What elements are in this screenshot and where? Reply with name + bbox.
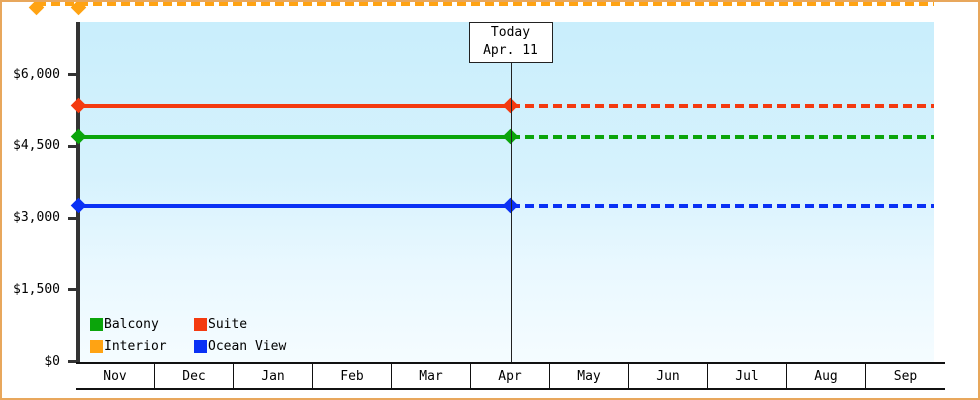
chart-legend: BalconySuiteInteriorOcean View — [90, 313, 286, 357]
today-label-line2: Apr. 11 — [478, 42, 544, 60]
x-axis-month-aug[interactable]: Aug — [787, 364, 866, 388]
price-trend-chart: $6,000$4,500$3,000$1,500$0 Today Apr. 11… — [0, 0, 980, 400]
y-tick-mark — [68, 288, 76, 291]
y-tick-label: $3,000 — [13, 211, 60, 224]
y-tick-label: $4,500 — [13, 139, 60, 152]
x-axis-month-jul[interactable]: Jul — [708, 364, 787, 388]
y-tick-mark — [68, 73, 76, 76]
legend-swatch — [194, 340, 207, 353]
today-vertical-line — [511, 22, 512, 362]
series-line-dashed — [37, 2, 935, 6]
series-line-solid — [76, 104, 511, 108]
x-axis-month-nov[interactable]: Nov — [76, 364, 155, 388]
legend-swatch — [90, 340, 103, 353]
series-line-dashed — [511, 204, 935, 208]
legend-swatch — [90, 318, 103, 331]
legend-item[interactable]: Suite — [194, 318, 286, 331]
x-axis-month-sep[interactable]: Sep — [866, 364, 945, 388]
today-label-box: Today Apr. 11 — [469, 22, 553, 63]
x-axis-month-may[interactable]: May — [550, 364, 629, 388]
y-tick-label: $6,000 — [13, 68, 60, 81]
legend-item[interactable]: Ocean View — [194, 340, 286, 353]
plot-area — [80, 22, 934, 362]
x-axis-month-dec[interactable]: Dec — [155, 364, 234, 388]
x-axis-month-jun[interactable]: Jun — [629, 364, 708, 388]
x-axis-months: NovDecJanFebMarAprMayJunJulAugSep — [76, 362, 945, 390]
series-line-dashed — [511, 135, 935, 139]
y-tick-mark — [68, 360, 76, 363]
y-tick-label: $0 — [44, 355, 60, 368]
series-line-solid — [76, 135, 511, 139]
y-tick-mark — [68, 217, 76, 220]
x-axis-month-mar[interactable]: Mar — [392, 364, 471, 388]
legend-swatch — [194, 318, 207, 331]
legend-item[interactable]: Balcony — [90, 318, 194, 331]
y-tick-label: $1,500 — [13, 283, 60, 296]
legend-item[interactable]: Interior — [90, 340, 194, 353]
legend-label: Balcony — [104, 318, 159, 331]
y-axis-line — [76, 22, 80, 362]
legend-label: Interior — [104, 340, 167, 353]
legend-label: Ocean View — [208, 340, 286, 353]
series-line-dashed — [511, 104, 935, 108]
x-axis-month-feb[interactable]: Feb — [313, 364, 392, 388]
y-tick-mark — [68, 145, 76, 148]
legend-label: Suite — [208, 318, 247, 331]
x-axis-month-apr[interactable]: Apr — [471, 364, 550, 388]
today-label-line1: Today — [478, 24, 544, 42]
x-axis-month-jan[interactable]: Jan — [234, 364, 313, 388]
series-line-solid — [76, 204, 511, 208]
